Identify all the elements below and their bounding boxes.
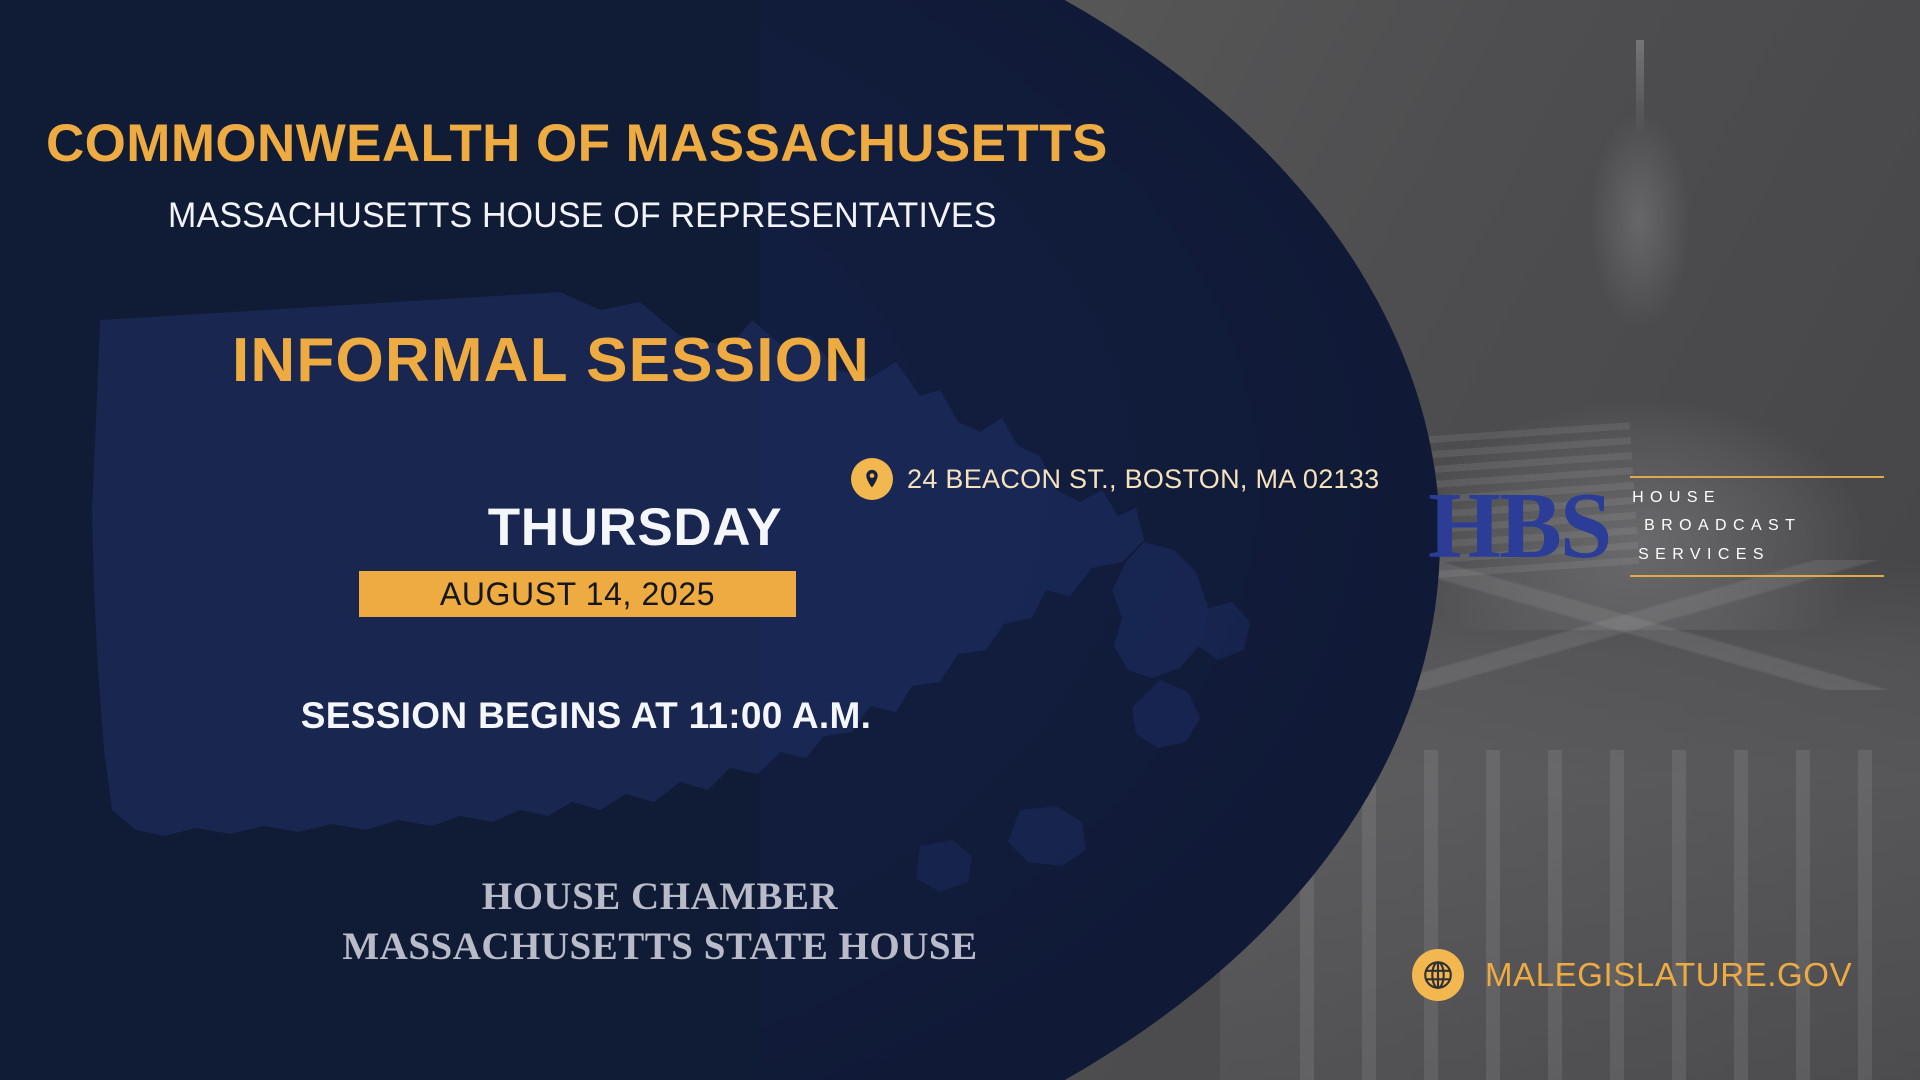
page-subtitle: MASSACHUSETTS HOUSE OF REPRESENTATIVES xyxy=(168,196,997,236)
session-date-banner: AUGUST 14, 2025 xyxy=(359,571,796,617)
page-title: COMMONWEALTH OF MASSACHUSETTS xyxy=(46,113,1108,174)
globe-icon xyxy=(1412,949,1464,1001)
hbs-wordmark: HOUSE BROADCAST SERVICES xyxy=(1630,476,1884,577)
hbs-monogram: HBS xyxy=(1428,482,1610,571)
session-announcement-slide: COMMONWEALTH OF MASSACHUSETTS MASSACHUSE… xyxy=(0,0,1920,1080)
hbs-word-services: SERVICES xyxy=(1630,541,1884,569)
hbs-word-house: HOUSE xyxy=(1630,484,1884,512)
slide-content: COMMONWEALTH OF MASSACHUSETTS MASSACHUSE… xyxy=(0,0,1920,1080)
venue-line-2: MASSACHUSETTS STATE HOUSE xyxy=(130,922,1190,972)
hbs-word-broadcast: BROADCAST xyxy=(1630,512,1884,540)
venue-line-1: HOUSE CHAMBER xyxy=(130,872,1190,922)
address-row: 24 BEACON ST., BOSTON, MA 02133 xyxy=(851,458,1380,500)
location-pin-icon xyxy=(851,458,893,500)
website-row[interactable]: MALEGISLATURE.GOV xyxy=(1412,949,1852,1001)
hbs-logo: HBS HOUSE BROADCAST SERVICES xyxy=(1428,476,1884,577)
session-type-heading: INFORMAL SESSION xyxy=(232,325,870,396)
session-weekday: THURSDAY xyxy=(418,497,852,558)
venue-block: HOUSE CHAMBER MASSACHUSETTS STATE HOUSE xyxy=(130,872,1190,972)
address-text: 24 BEACON ST., BOSTON, MA 02133 xyxy=(907,464,1380,495)
session-date-text: AUGUST 14, 2025 xyxy=(440,576,715,613)
session-time-text: SESSION BEGINS AT 11:00 A.M. xyxy=(272,695,900,737)
website-text: MALEGISLATURE.GOV xyxy=(1485,956,1852,994)
